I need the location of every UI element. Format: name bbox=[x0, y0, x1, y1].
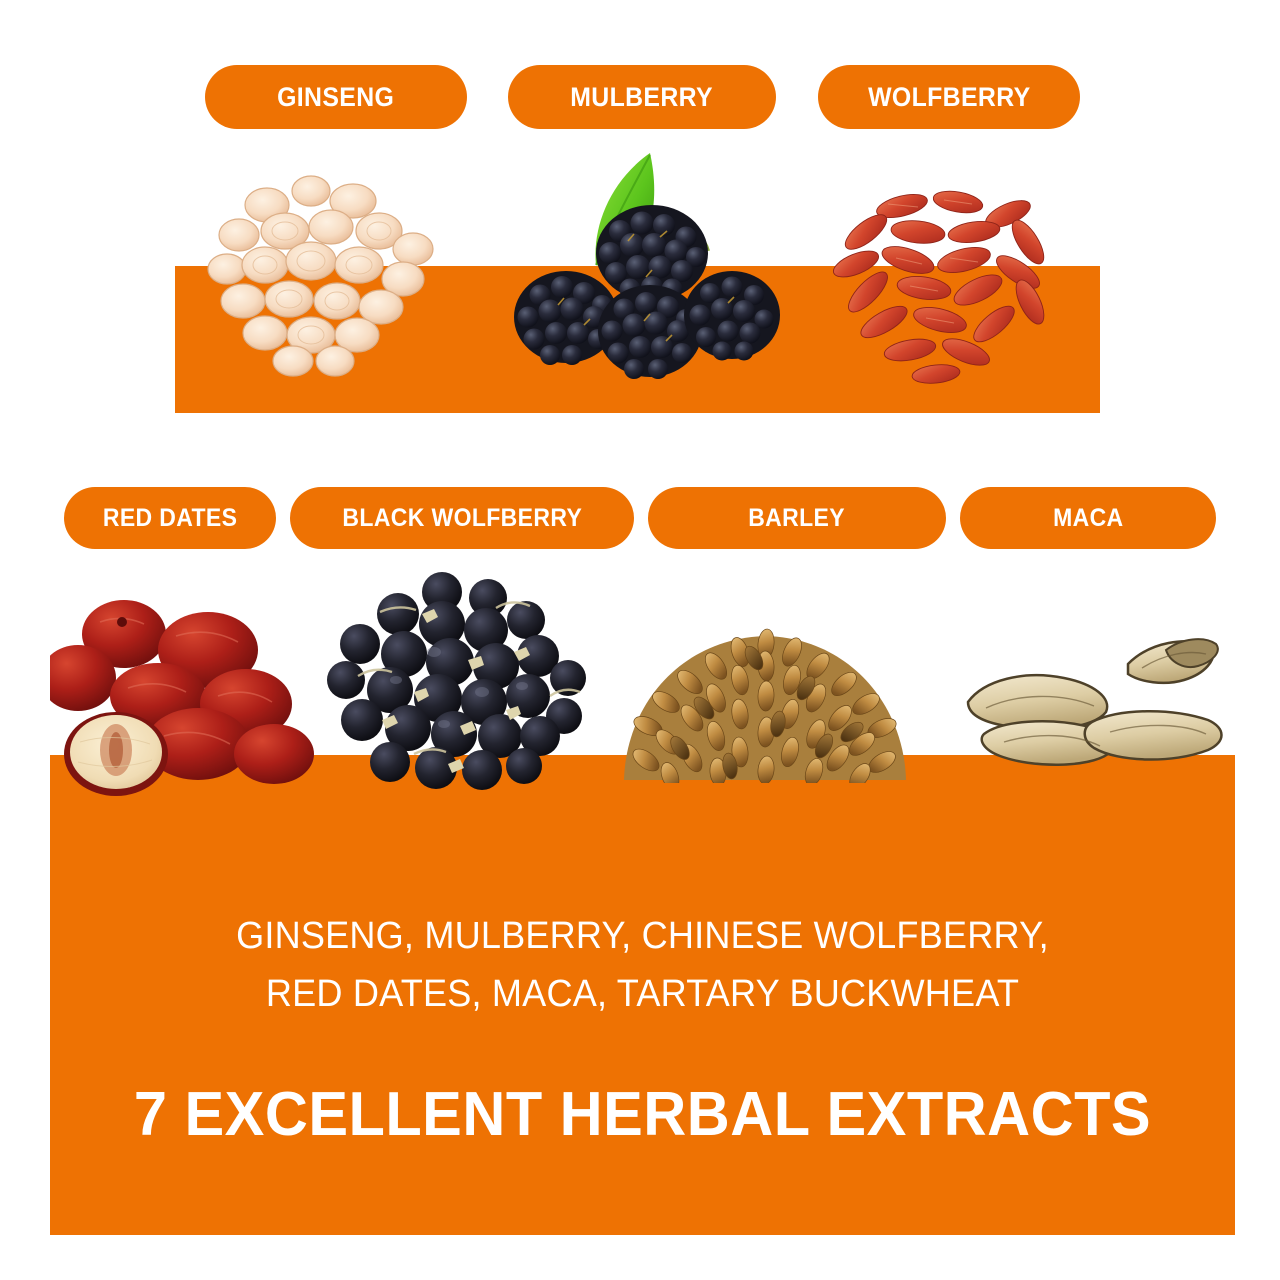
label-pill-maca[interactable]: MACA bbox=[960, 487, 1216, 549]
red-jujube-dates-image bbox=[50, 592, 320, 807]
mulberry-berries-image bbox=[500, 145, 790, 385]
label-pill-barley[interactable]: BARLEY bbox=[648, 487, 946, 549]
barley-grains-image bbox=[620, 608, 910, 783]
ingredient-list: GINSENG, MULBERRY, CHINESE WOLFBERRY, RE… bbox=[50, 908, 1235, 1024]
label-pill-ginseng[interactable]: GINSENG bbox=[205, 65, 467, 129]
label-pill-maca-text: MACA bbox=[1053, 504, 1123, 533]
ingredient-list-line-1: GINSENG, MULBERRY, CHINESE WOLFBERRY, bbox=[80, 908, 1206, 966]
ingredient-list-line-2: RED DATES, MACA, TARTARY BUCKWHEAT bbox=[80, 966, 1206, 1024]
label-pill-wolfberry-text: WOLFBERRY bbox=[868, 82, 1030, 113]
label-pill-black-wolfberry[interactable]: BLACK WOLFBERRY bbox=[290, 487, 634, 549]
ginseng-slices-image bbox=[207, 165, 447, 380]
maca-slices-image bbox=[960, 630, 1230, 775]
label-pill-ginseng-text: GINSENG bbox=[277, 82, 394, 113]
headline-text: 7 EXCELLENT HERBAL EXTRACTS bbox=[74, 1082, 1212, 1147]
label-pill-mulberry-text: MULBERRY bbox=[571, 82, 714, 113]
headline: 7 EXCELLENT HERBAL EXTRACTS bbox=[50, 1082, 1235, 1147]
infographic-canvas: GINSENG MULBERRY WOLFBERRY RED DATES BLA… bbox=[0, 0, 1280, 1280]
label-pill-red-dates-text: RED DATES bbox=[103, 504, 238, 533]
label-pill-wolfberry[interactable]: WOLFBERRY bbox=[818, 65, 1080, 129]
label-pill-barley-text: BARLEY bbox=[749, 504, 846, 533]
label-pill-red-dates[interactable]: RED DATES bbox=[64, 487, 276, 549]
label-pill-mulberry[interactable]: MULBERRY bbox=[508, 65, 776, 129]
label-pill-black-wolfberry-text: BLACK WOLFBERRY bbox=[342, 504, 582, 533]
black-goji-berries-image bbox=[318, 568, 598, 803]
goji-berries-image bbox=[832, 180, 1072, 395]
